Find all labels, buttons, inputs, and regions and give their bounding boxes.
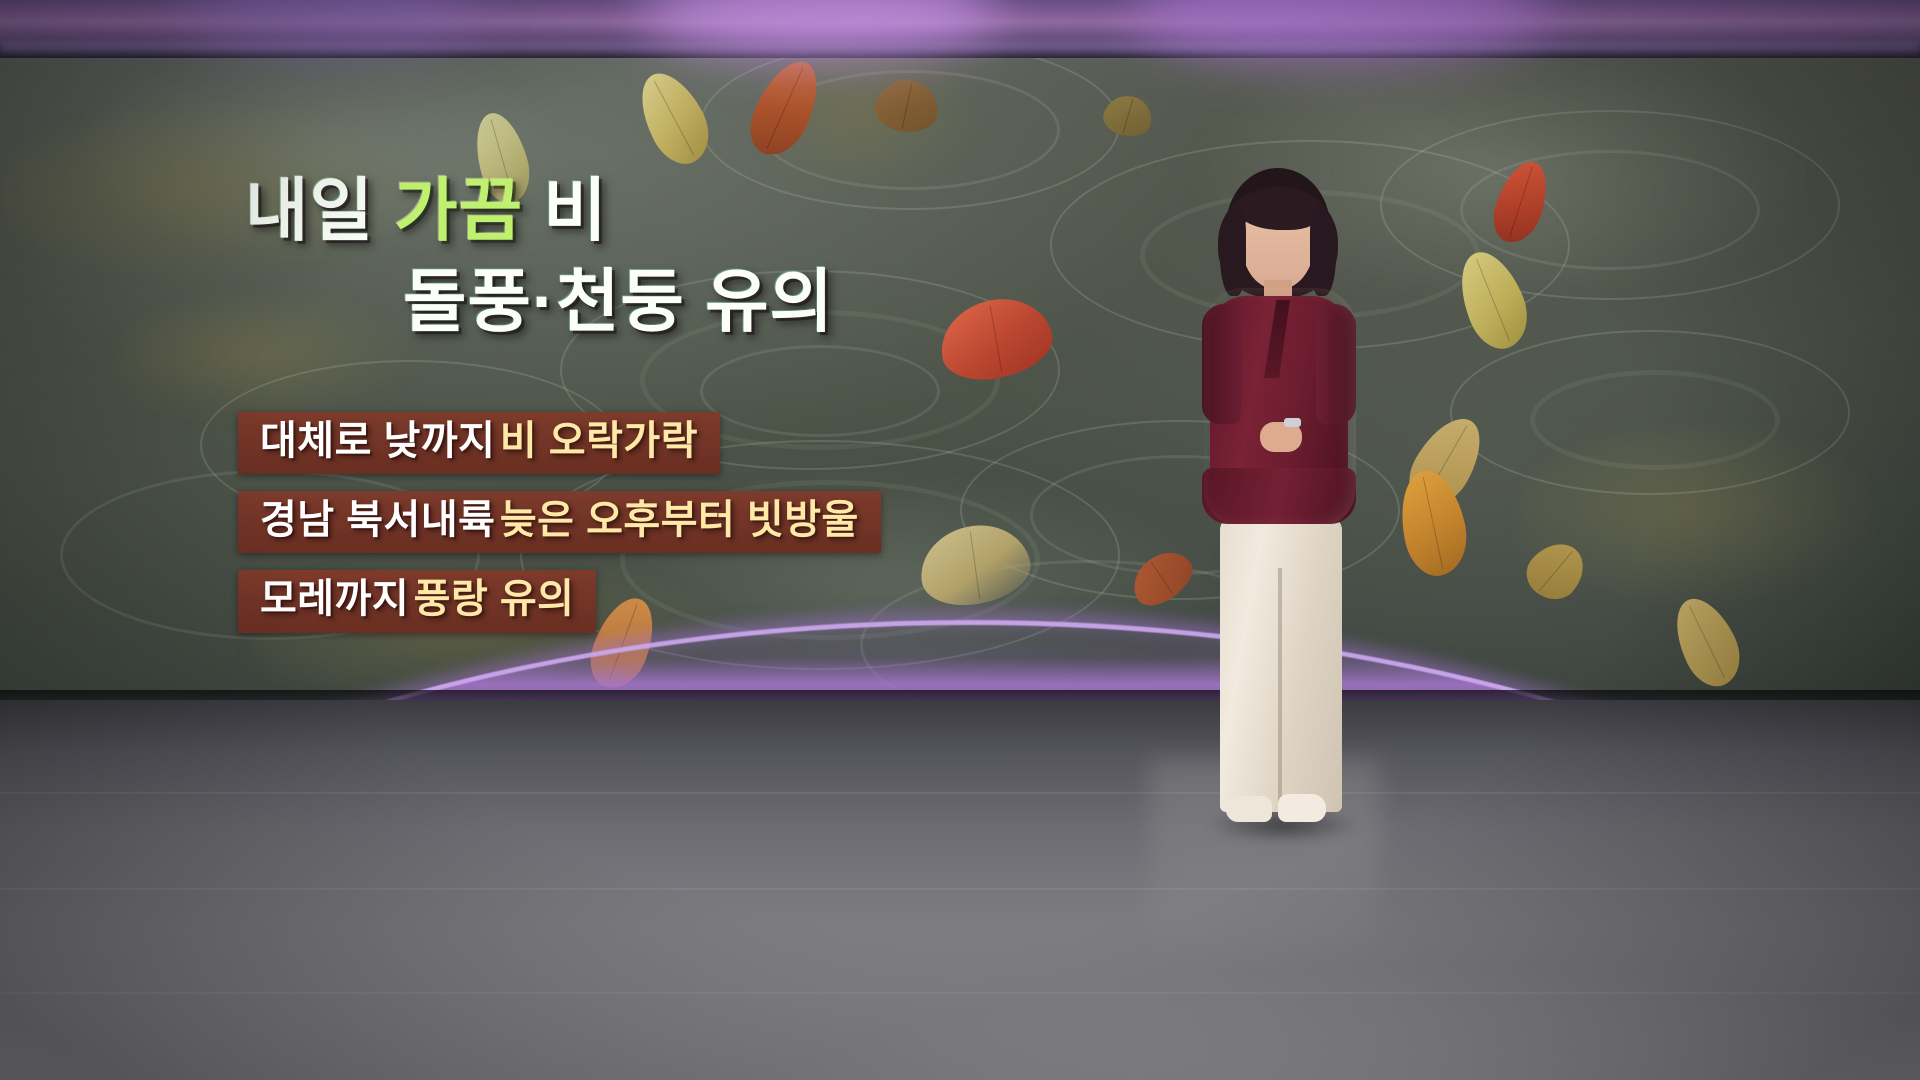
weather-headline: 내일 가끔 비 돌풍·천둥 유의 — [0, 176, 1000, 336]
caption-bar-2: 경남 북서내륙 늦은 오후부터 빗방울 — [238, 491, 881, 553]
headline-word-sometimes: 가끔 — [394, 172, 523, 249]
caption-1-white-text: 대체로 낮까지 — [260, 419, 495, 463]
ceiling-glow — [640, 0, 1000, 56]
ripple-ring — [1530, 370, 1780, 470]
ceiling-glow — [1130, 0, 1550, 60]
presenter-shoe-left — [1226, 796, 1272, 822]
studio-ceiling-light-strip — [0, 0, 1920, 58]
headline-line-1: 내일 가끔 비 — [0, 176, 1000, 245]
floor-seam — [0, 792, 1920, 794]
presenter-shoe-right — [1278, 794, 1326, 822]
broadcast-screenshot: 내일 가끔 비 돌풍·천둥 유의 대체로 낮까지 비 오락가락 경남 북서내륙 … — [0, 0, 1920, 1080]
headline-line-2: 돌풍·천둥 유의 — [0, 267, 1000, 336]
caption-bar-1: 대체로 낮까지 비 오락가락 — [238, 412, 720, 474]
floor-seam — [0, 888, 1920, 890]
weather-presenter — [1168, 168, 1388, 818]
headline-word-rain: 비 — [543, 172, 607, 249]
caption-row: 대체로 낮까지 비 오락가락 — [238, 412, 881, 491]
presenter-hair-side — [1220, 208, 1246, 296]
ceiling-glow — [180, 0, 480, 50]
headline-gust-thunder-caution: 돌풍·천둥 유의 — [403, 263, 834, 340]
caption-row: 경남 북서내륙 늦은 오후부터 빗방울 — [238, 491, 881, 570]
caption-1-yellow-text: 비 오락가락 — [500, 419, 698, 463]
presenter-rim-light — [1204, 288, 1356, 528]
studio-floor — [0, 700, 1920, 1080]
caption-2-yellow-text: 늦은 오후부터 빗방울 — [500, 498, 859, 542]
headline-word-tomorrow: 내일 — [245, 172, 374, 249]
floor-seam — [0, 992, 1920, 994]
presenter-trouser-seam — [1278, 568, 1282, 812]
caption-2-white-text: 경남 북서내륙 — [260, 498, 495, 542]
